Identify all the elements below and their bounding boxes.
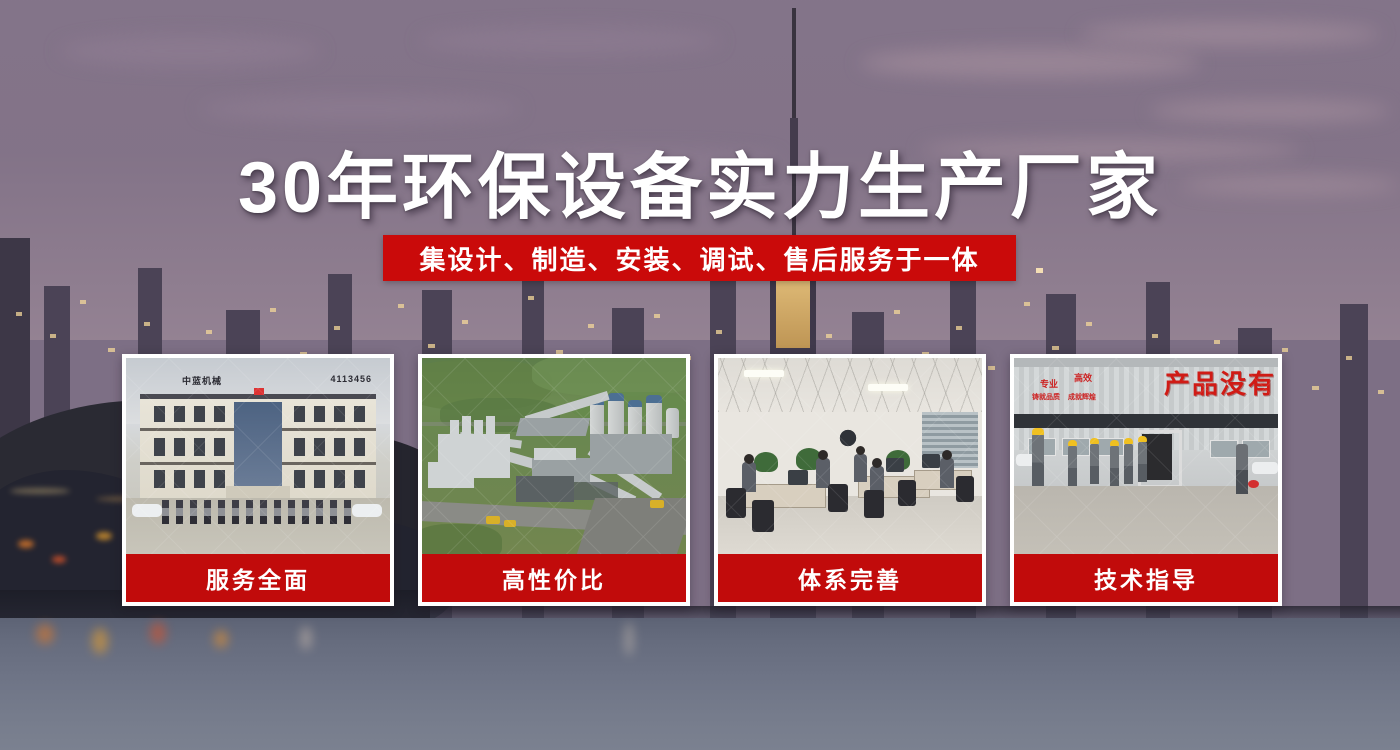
feature-card-system[interactable]: 体系完善 xyxy=(714,354,986,606)
card-caption-bar: 高性价比 xyxy=(422,554,686,602)
card-caption-text: 体系完善 xyxy=(798,561,902,595)
card-caption-text: 高性价比 xyxy=(502,561,606,595)
factory-slogan-small-4: 成就辉煌 xyxy=(1068,394,1096,401)
card-caption-bar: 体系完善 xyxy=(718,554,982,602)
page-title: 30年环保设备实力生产厂家 xyxy=(0,128,1400,233)
subtitle-banner: 集设计、制造、安装、调试、售后服务于一体 xyxy=(383,235,1016,281)
subtitle-text: 集设计、制造、安装、调试、售后服务于一体 xyxy=(419,240,979,277)
card-photo-workshop-briefing: 产品没有 专业 高效 铸就品质 成就辉煌 xyxy=(1014,358,1278,554)
card-caption-text: 服务全面 xyxy=(206,561,310,595)
banner-ad-stage: 30年环保设备实力生产厂家 集设计、制造、安装、调试、售后服务于一体 xyxy=(0,0,1400,750)
river-water xyxy=(0,618,1400,750)
card-photo-production-base xyxy=(422,358,686,554)
feature-card-value[interactable]: 高性价比 xyxy=(418,354,690,606)
factory-slogan-small-3: 铸就品质 xyxy=(1032,394,1060,401)
building-phone-text: 4113456 xyxy=(330,374,372,384)
factory-slogan-small-2: 高效 xyxy=(1074,374,1092,383)
building-sign-text: 中蓝机械 xyxy=(182,374,222,387)
card-caption-bar: 技术指导 xyxy=(1014,554,1278,602)
card-photo-office-interior xyxy=(718,358,982,554)
card-photo-office-building: 中蓝机械 4113456 xyxy=(126,358,390,554)
factory-slogan-large: 产品没有 xyxy=(1164,364,1276,401)
card-caption-bar: 服务全面 xyxy=(126,554,390,602)
factory-slogan-small-1: 专业 xyxy=(1040,380,1058,389)
feature-card-list: 中蓝机械 4113456 服务全面 xyxy=(122,354,1282,606)
feature-card-service[interactable]: 中蓝机械 4113456 服务全面 xyxy=(122,354,394,606)
feature-card-technical-guidance[interactable]: 产品没有 专业 高效 铸就品质 成就辉煌 xyxy=(1010,354,1282,606)
card-caption-text: 技术指导 xyxy=(1094,561,1198,595)
